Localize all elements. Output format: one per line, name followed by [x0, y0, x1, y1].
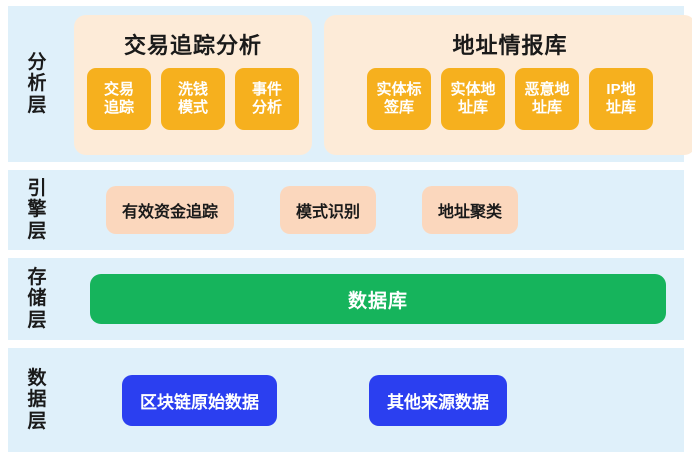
chip-transaction-trace[interactable]: 交易 追踪: [87, 68, 151, 130]
pill-address-clustering[interactable]: 地址聚类: [422, 186, 518, 234]
chip-line: 址库: [458, 99, 488, 117]
layer-row-analysis: 分析层 交易追踪分析 交易 追踪 洗钱 模式: [8, 6, 684, 162]
layer-label-data: 数据层: [8, 348, 66, 452]
layer-body-engine: 有效资金追踪 模式识别 地址聚类: [66, 170, 684, 250]
chip-line: 实体地: [450, 81, 495, 99]
data-box-blockchain-raw-data[interactable]: 区块链原始数据: [122, 375, 277, 426]
chip-line: 交易: [104, 81, 134, 99]
chip-line: 事件: [252, 81, 282, 99]
data-box-container: 区块链原始数据 其他来源数据: [66, 375, 507, 426]
group-address-intelligence: 地址情报库 实体标 签库 实体地 址库 恶意地 址库: [324, 15, 692, 155]
chip-line: 签库: [384, 99, 414, 117]
pill-pattern-recognition[interactable]: 模式识别: [280, 186, 376, 234]
layer-body-data: 区块链原始数据 其他来源数据: [66, 348, 684, 452]
chip-line: 址库: [606, 99, 636, 117]
layer-body-analysis: 交易追踪分析 交易 追踪 洗钱 模式 事件 分析: [66, 6, 692, 162]
chip-row-address-intelligence: 实体标 签库 实体地 址库 恶意地 址库 IP地: [367, 68, 653, 130]
chip-row-transaction-tracing: 交易 追踪 洗钱 模式 事件 分析: [87, 68, 299, 130]
layer-label-storage-text: 存储层: [27, 267, 46, 331]
group-title-address-intelligence: 地址情报库: [452, 28, 567, 60]
data-box-other-source-data[interactable]: 其他来源数据: [369, 375, 507, 426]
chip-line: 址库: [532, 99, 562, 117]
layer-label-engine: 引擎层: [8, 170, 66, 250]
layer-label-engine-text: 引擎层: [27, 178, 46, 242]
chip-line: 追踪: [104, 99, 134, 117]
architecture-diagram: 分析层 交易追踪分析 交易 追踪 洗钱 模式: [0, 0, 692, 459]
chip-line: 恶意地: [524, 81, 569, 99]
chip-line: 分析: [252, 99, 282, 117]
chip-line: IP地: [606, 81, 635, 99]
group-transaction-tracing: 交易追踪分析 交易 追踪 洗钱 模式 事件 分析: [74, 15, 312, 155]
analysis-group-container: 交易追踪分析 交易 追踪 洗钱 模式 事件 分析: [66, 15, 692, 155]
chip-entity-tag-library[interactable]: 实体标 签库: [367, 68, 431, 130]
chip-line: 实体标: [376, 81, 421, 99]
group-title-transaction-tracing: 交易追踪分析: [124, 28, 262, 60]
chip-money-laundering-pattern[interactable]: 洗钱 模式: [161, 68, 225, 130]
layer-body-storage: 数据库: [66, 258, 684, 340]
chip-entity-address-library[interactable]: 实体地 址库: [441, 68, 505, 130]
layer-row-data: 数据层 区块链原始数据 其他来源数据: [8, 348, 684, 452]
layer-label-storage: 存储层: [8, 258, 66, 340]
database-bar[interactable]: 数据库: [90, 274, 666, 324]
layer-label-analysis-text: 分析层: [27, 52, 46, 116]
engine-pill-container: 有效资金追踪 模式识别 地址聚类: [66, 186, 518, 234]
chip-ip-address-library[interactable]: IP地 址库: [589, 68, 653, 130]
chip-event-analysis[interactable]: 事件 分析: [235, 68, 299, 130]
chip-malicious-address-library[interactable]: 恶意地 址库: [515, 68, 579, 130]
layer-label-data-text: 数据层: [27, 368, 46, 432]
chip-line: 洗钱: [178, 81, 208, 99]
pill-effective-fund-tracing[interactable]: 有效资金追踪: [106, 186, 234, 234]
layer-label-analysis: 分析层: [8, 6, 66, 162]
layer-row-engine: 引擎层 有效资金追踪 模式识别 地址聚类: [8, 170, 684, 250]
chip-line: 模式: [178, 99, 208, 117]
layer-row-storage: 存储层 数据库: [8, 258, 684, 340]
